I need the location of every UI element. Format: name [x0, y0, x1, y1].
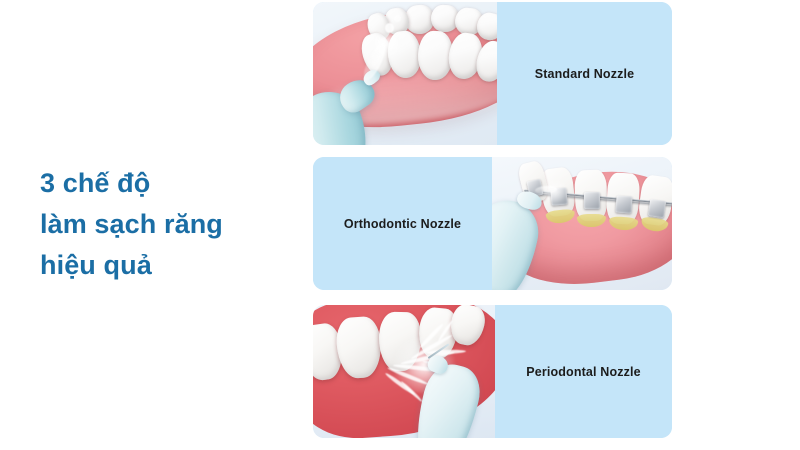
panel-label-orthodontic: Orthodontic Nozzle — [344, 217, 461, 231]
label-pane-standard: Standard Nozzle — [497, 2, 672, 145]
panel-label-standard: Standard Nozzle — [535, 67, 635, 81]
label-pane-orthodontic: Orthodontic Nozzle — [313, 157, 492, 290]
promo-graphic-root: 3 chế độ làm sạch răng hiệu quả — [0, 0, 800, 450]
illustration-periodontal-nozzle — [313, 305, 495, 438]
illustration-standard-nozzle — [313, 2, 497, 145]
page-title: 3 chế độ làm sạch răng hiệu quả — [40, 163, 290, 286]
feature-panel-standard: Standard Nozzle — [313, 2, 672, 145]
label-pane-periodontal: Periodontal Nozzle — [495, 305, 672, 438]
feature-panel-periodontal: Periodontal Nozzle — [313, 305, 672, 438]
panel-label-periodontal: Periodontal Nozzle — [526, 365, 641, 379]
illustration-orthodontic-nozzle — [492, 157, 672, 290]
feature-panel-orthodontic: Orthodontic Nozzle — [313, 157, 672, 290]
